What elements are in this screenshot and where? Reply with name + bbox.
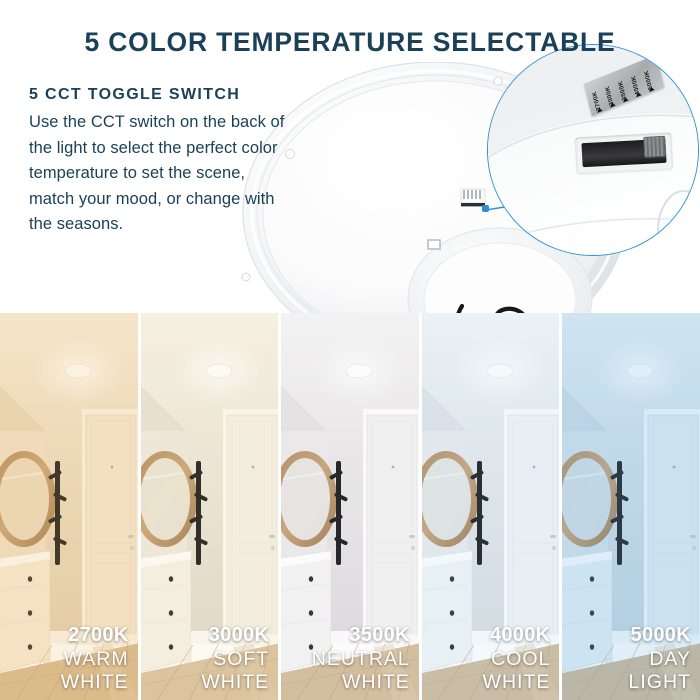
callout-pin-icon [482, 205, 489, 212]
panel-name-line2: WHITE [312, 673, 410, 693]
magnifier-circle-icon: 2700K 3000K 3500K 4000K 5000K [487, 44, 699, 256]
product-infographic: 2700K 3000K 3500K 4000K 5000K [0, 0, 700, 700]
cct-panel[interactable]: 3000K SOFT WHITE [138, 313, 279, 700]
panel-name-line2: LIGHT [629, 673, 691, 693]
page-title: 5 COLOR TEMPERATURE SELECTABLE [0, 27, 700, 58]
panel-kelvin: 2700K [61, 625, 129, 645]
panel-name-line2: WHITE [201, 673, 269, 693]
panel-name-line1: NEUTRAL [312, 650, 410, 670]
panel-name-line2: WHITE [483, 673, 551, 693]
panel-name-line2: WHITE [61, 673, 129, 693]
cct-panel[interactable]: 5000K DAY LIGHT [559, 313, 700, 700]
panel-name-line1: SOFT [201, 650, 269, 670]
color-temperature-photo-strip: 2700K WARM WHITE [0, 313, 700, 700]
copy-heading: 5 CCT TOGGLE SWITCH [29, 86, 287, 104]
toggle-switch-icon [575, 133, 673, 174]
panel-kelvin: 5000K [629, 625, 691, 645]
top-section: 2700K 3000K 3500K 4000K 5000K [0, 0, 700, 313]
copy-block: 5 CCT TOGGLE SWITCH Use the CCT switch o… [29, 86, 287, 238]
cct-panel[interactable]: 3500K NEUTRAL WHITE [278, 313, 419, 700]
panel-labels: 2700K WARM WHITE [61, 625, 129, 692]
panel-name-line1: COOL [483, 650, 551, 670]
panel-labels: 5000K DAY LIGHT [629, 625, 691, 692]
panel-labels: 4000K COOL WHITE [483, 625, 551, 692]
panel-name-line1: DAY [629, 650, 691, 670]
panel-kelvin: 3000K [201, 625, 269, 645]
panel-labels: 3000K SOFT WHITE [201, 625, 269, 692]
panel-kelvin: 4000K [483, 625, 551, 645]
cct-panel[interactable]: 4000K COOL WHITE [419, 313, 560, 700]
cct-panel[interactable]: 2700K WARM WHITE [0, 313, 138, 700]
copy-body: Use the CCT switch on the back of the li… [29, 110, 287, 238]
panel-labels: 3500K NEUTRAL WHITE [312, 625, 410, 692]
panel-name-line1: WARM [61, 650, 129, 670]
magnifier-callout: 2700K 3000K 3500K 4000K 5000K [487, 44, 699, 256]
panel-kelvin: 3500K [312, 625, 410, 645]
